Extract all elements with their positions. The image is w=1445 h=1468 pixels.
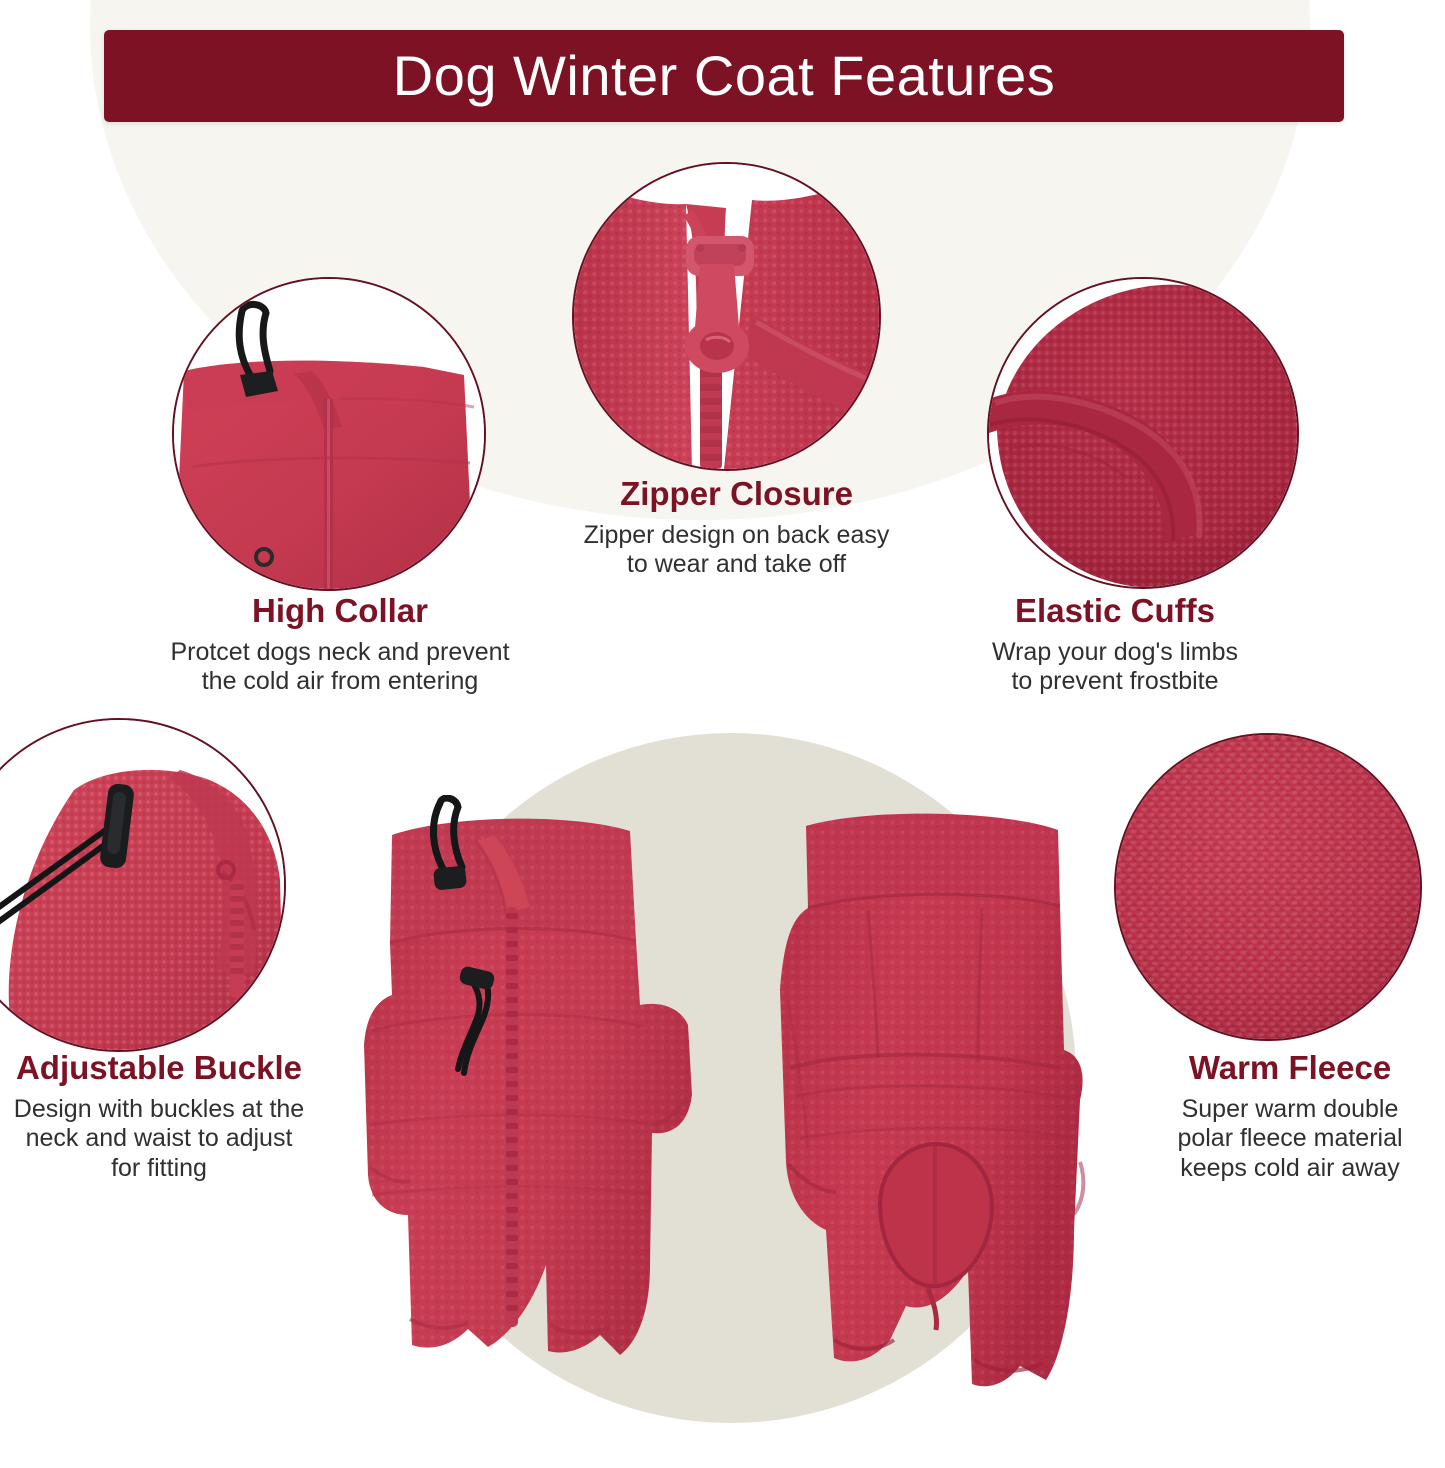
feature-description-adjustable-buckle: Design with buckles at the neck and wais… bbox=[0, 1095, 318, 1184]
cuff-closeup-photo bbox=[989, 279, 1297, 587]
feature-photo-elastic-cuffs bbox=[987, 277, 1299, 589]
feature-title-elastic-cuffs: Elastic Cuffs bbox=[945, 593, 1285, 630]
feature-text-high-collar: High Collar Protcet dogs neck and preven… bbox=[105, 593, 575, 697]
zipper-closeup-photo bbox=[574, 164, 879, 469]
feature-description-high-collar: Protcet dogs neck and prevent the cold a… bbox=[105, 638, 575, 697]
product-image-back-view bbox=[730, 800, 1090, 1460]
feature-text-elastic-cuffs: Elastic Cuffs Wrap your dog's limbs to p… bbox=[945, 593, 1285, 697]
dog-coat-front-svg bbox=[300, 795, 705, 1460]
feature-title-warm-fleece: Warm Fleece bbox=[1140, 1050, 1440, 1087]
feature-photo-warm-fleece bbox=[1114, 733, 1422, 1041]
feature-photo-high-collar bbox=[172, 277, 486, 591]
feature-title-adjustable-buckle: Adjustable Buckle bbox=[0, 1050, 318, 1087]
feature-description-warm-fleece: Super warm double polar fleece material … bbox=[1140, 1095, 1440, 1184]
feature-text-adjustable-buckle: Adjustable Buckle Design with buckles at… bbox=[0, 1050, 318, 1183]
feature-text-warm-fleece: Warm Fleece Super warm double polar flee… bbox=[1140, 1050, 1440, 1183]
dog-coat-back-svg bbox=[730, 800, 1090, 1460]
page-title: Dog Winter Coat Features bbox=[393, 48, 1055, 104]
feature-description-zipper-closure: Zipper design on back easy to wear and t… bbox=[540, 521, 933, 580]
feature-photo-zipper-closure bbox=[572, 162, 881, 471]
feature-title-zipper-closure: Zipper Closure bbox=[540, 476, 933, 513]
product-image-front-view bbox=[300, 795, 705, 1460]
feature-description-elastic-cuffs: Wrap your dog's limbs to prevent frostbi… bbox=[945, 638, 1285, 697]
fleece-texture-photo bbox=[1116, 735, 1420, 1039]
feature-text-zipper-closure: Zipper Closure Zipper design on back eas… bbox=[540, 476, 933, 580]
feature-title-high-collar: High Collar bbox=[105, 593, 575, 630]
title-banner: Dog Winter Coat Features bbox=[104, 30, 1344, 122]
feature-photo-adjustable-buckle bbox=[0, 718, 286, 1052]
collar-closeup-photo bbox=[174, 279, 484, 589]
buckle-closeup-photo bbox=[0, 720, 284, 1050]
